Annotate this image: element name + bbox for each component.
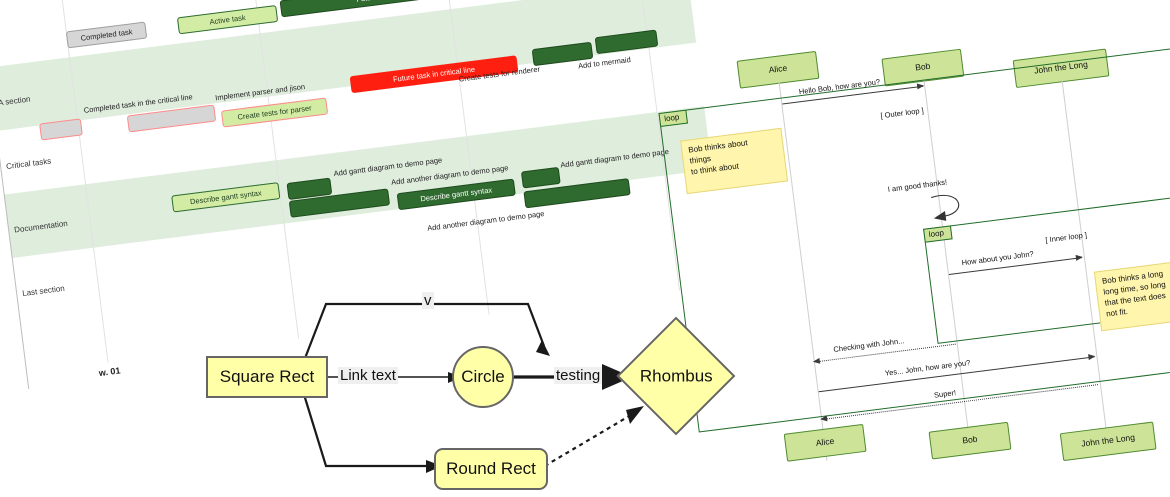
sequence-arrowhead-how-about-john [1075,254,1083,261]
sequence-arrowhead-checking-john [812,357,820,364]
sequence-arrowhead-yes-john [1088,353,1096,360]
flowchart-edge-label-link-text: Link text [338,367,398,384]
flowchart-edge-label-testing: testing [554,367,602,384]
flowchart-node-circle-label: Circle [461,367,504,387]
flowchart-edge-label-v: v [422,292,434,309]
flowchart-node-square-rect[interactable]: Square Rect [206,356,328,398]
flowchart-node-circle[interactable]: Circle [452,346,514,408]
flowchart-node-rhombus-label: Rhombus [640,366,713,386]
sequence-arrowhead-hello-bob [917,82,925,89]
sequence-note-bob-thinks-long: Bob thinks a long long time, so long tha… [1094,259,1170,332]
sequence-actor-alice-bottom[interactable]: Alice [784,424,867,462]
flowchart-node-round-rect-label: Round Rect [446,459,536,479]
sequence-actor-john-bottom[interactable]: John the Long [1060,422,1157,462]
flowchart: Square Rect Circle Rhombus Round Rect Li… [186,288,766,497]
sequence-arrowhead-super [820,415,828,422]
flowchart-node-square-rect-label: Square Rect [220,367,315,387]
sequence-self-loop-arrow [929,189,975,228]
gantt-axis-label: w. 01 [98,365,121,378]
flowchart-node-round-rect[interactable]: Round Rect [434,448,548,490]
sequence-actor-bob-bottom[interactable]: Bob [929,422,1012,460]
diagram-collage: Adding GANTT diagram functionality to me… [0,0,1170,497]
